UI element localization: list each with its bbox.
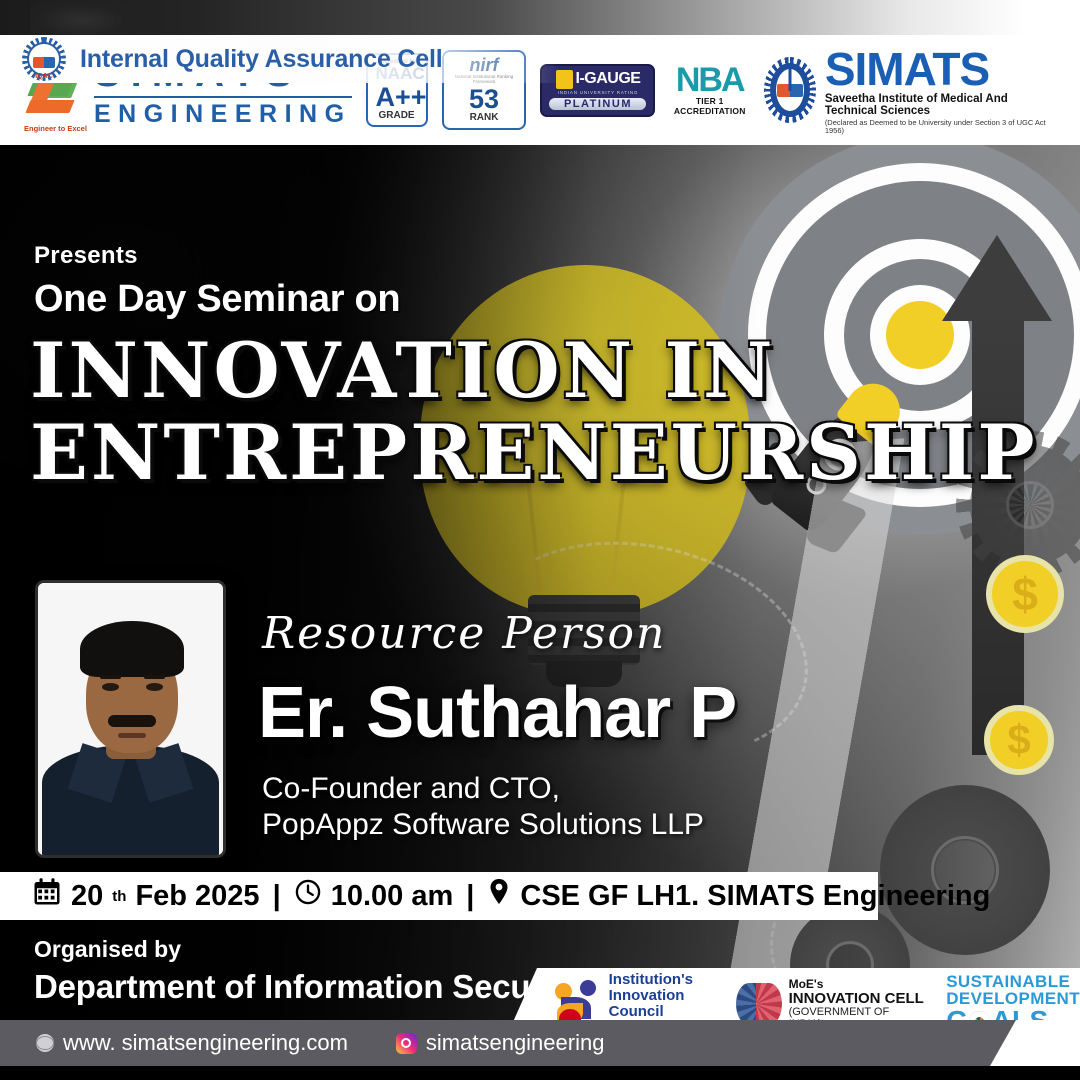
- nirf-rank-value: 53: [452, 85, 517, 113]
- nirf-rank-label: RANK: [452, 113, 517, 124]
- iqac-title: Internal Quality Assurance Cell: [80, 45, 442, 74]
- nba-tier-label: TIER 1 ACCREDITATION: [669, 96, 749, 116]
- instagram-icon: [396, 1033, 417, 1054]
- iic-line2: Innovation: [609, 988, 714, 1004]
- instagram-handle: simatsengineering: [426, 1030, 605, 1056]
- iqac-seal-label: IQAC: [22, 73, 66, 80]
- simats-university-seal-icon: [764, 57, 816, 123]
- iic-line1: Institution's: [609, 972, 714, 988]
- event-title: INNOVATION IN ENTREPRENEURSHIP: [30, 330, 900, 494]
- simats-university-fullname: Saveetha Institute of Medical And Techni…: [825, 94, 1054, 117]
- qs-igauge-sublabel: INDIAN UNIVERSITY RATING: [549, 90, 646, 95]
- nba-mark-label: NBA: [669, 64, 749, 96]
- presents-label: Presents: [34, 242, 138, 270]
- wordmark-divider: [94, 96, 352, 98]
- speaker-role-line1: Co-Founder and CTO,: [262, 772, 560, 806]
- moe-line2: INNOVATION CELL: [789, 991, 925, 1007]
- event-poster: Engineer to Excel SIMATS ENGINEERING Acc…: [0, 0, 1080, 1080]
- nba-accreditation-badge: NBA TIER 1 ACCREDITATION: [669, 64, 749, 116]
- clock-icon: [294, 878, 322, 914]
- event-date-rest: Feb 2025: [135, 880, 259, 913]
- resource-person-label: Resource Person: [262, 608, 666, 659]
- iqac-banner: IQAC Internal Quality Assurance Cell: [0, 35, 560, 83]
- event-title-line1: INNOVATION IN: [30, 326, 776, 415]
- website-link[interactable]: www. simatsengineering.com: [36, 1030, 348, 1056]
- naac-grade-label: GRADE: [376, 111, 418, 122]
- details-separator-2: |: [462, 880, 478, 913]
- event-title-line2: ENTREPRENEURSHIP: [30, 412, 900, 494]
- speaker-name: Er. Suthahar P: [258, 672, 736, 754]
- simats-university-name: SIMATS: [825, 46, 1054, 92]
- event-subtitle: One Day Seminar on: [34, 278, 400, 321]
- qs-igauge-name: I-GAUGE: [576, 70, 641, 88]
- speaker-role-line2: PopAppz Software Solutions LLP: [262, 808, 704, 842]
- simats-university-wordmark: SIMATS Saveetha Institute of Medical And…: [825, 46, 1054, 134]
- simats-engineering-tagline: Engineer to Excel: [24, 124, 87, 133]
- moe-line1: MoE's: [789, 978, 925, 991]
- organised-by-label: Organised by: [34, 936, 181, 963]
- event-date-day: 20: [71, 880, 103, 913]
- event-details-bar: 20th Feb 2025 | 10.00 am | CSE GF LH1. S…: [0, 872, 878, 920]
- simats-university-declaration: (Declared as Deemed to be University und…: [825, 119, 1054, 134]
- event-date-suffix: th: [112, 888, 126, 905]
- bottom-black-bar: [0, 1066, 1080, 1080]
- engineering-word: ENGINEERING: [94, 102, 352, 127]
- location-pin-icon: [487, 878, 511, 914]
- decorative-leaf-shape: [30, 0, 160, 40]
- instagram-link[interactable]: simatsengineering: [396, 1030, 605, 1056]
- qs-tier-label: PLATINUM: [549, 98, 646, 110]
- calendar-icon: [32, 877, 62, 915]
- details-separator-1: |: [269, 880, 285, 913]
- event-time: 10.00 am: [331, 880, 454, 913]
- website-url: www. simatsengineering.com: [63, 1030, 348, 1056]
- simats-university-logo: SIMATS Saveetha Institute of Medical And…: [764, 46, 1054, 134]
- iic-line3: Council: [609, 1004, 714, 1020]
- iqac-seal-icon: IQAC: [22, 37, 66, 81]
- naac-grade-value: A++: [376, 83, 418, 111]
- event-venue: CSE GF LH1. SIMATS Engineering: [520, 880, 990, 913]
- top-gradient-strip: [0, 0, 1080, 35]
- globe-icon: [36, 1034, 54, 1052]
- speaker-photo: [38, 583, 223, 855]
- social-links-bar: www. simatsengineering.com simatsenginee…: [0, 1020, 1080, 1066]
- organising-department: Department of Information Security: [34, 968, 581, 1006]
- sdg-line1: SUSTAINABLE: [946, 973, 1080, 990]
- social-bar-angled-cut: [990, 1020, 1080, 1066]
